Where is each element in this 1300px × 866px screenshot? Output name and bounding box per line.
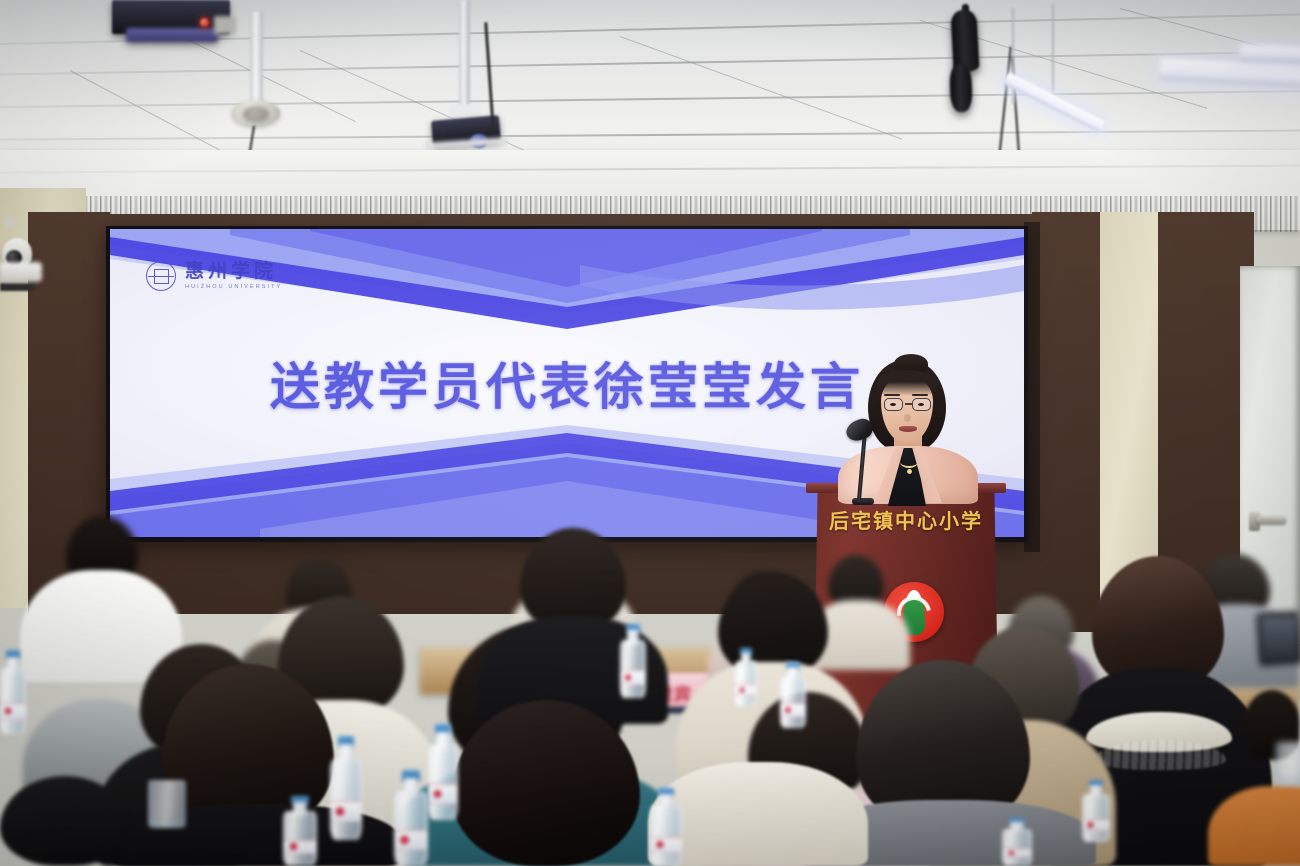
camera-base xyxy=(0,262,42,282)
light-hanger xyxy=(1052,4,1054,92)
speaker-mouth xyxy=(899,426,917,432)
bottle-label xyxy=(735,684,757,696)
water-bottle-icon xyxy=(394,770,428,866)
water-bottle-icon xyxy=(620,624,646,698)
university-name-cn: 惠州学院 xyxy=(185,262,282,281)
speaker-hairline xyxy=(876,370,938,396)
camera-shelf xyxy=(0,283,34,291)
drinking-glass-icon xyxy=(1276,742,1300,784)
door-handle-icon[interactable] xyxy=(1256,516,1286,524)
water-bottle-icon xyxy=(1082,780,1110,842)
bottle-label xyxy=(1082,819,1110,832)
bottle-label xyxy=(394,830,428,849)
bottle-body xyxy=(650,805,682,866)
speaker-eye-left xyxy=(890,403,896,406)
bottle-label xyxy=(650,837,682,853)
bottle-label xyxy=(330,801,362,822)
university-seal-icon xyxy=(146,261,176,291)
bottle-body xyxy=(330,759,362,840)
event-photograph: 惠州学院 HUIZHOU UNIVERSITY 送教学员代表徐莹莹发言 后宅镇中… xyxy=(0,0,1300,866)
bottle-label xyxy=(283,840,317,854)
speaker-nose xyxy=(904,414,911,422)
bottle-label xyxy=(1002,848,1032,858)
drinking-glass-icon xyxy=(148,780,186,828)
bottle-body xyxy=(620,640,646,698)
projector-pole xyxy=(459,0,470,112)
water-bottle-icon xyxy=(283,796,317,866)
status-led-icon xyxy=(200,18,209,27)
bottle-body xyxy=(1082,794,1110,842)
microphone-base xyxy=(852,498,874,505)
water-bottle-icon xyxy=(650,788,682,866)
laptop-screen xyxy=(1262,617,1296,659)
bottle-label xyxy=(0,703,26,720)
speaker-eye-right xyxy=(918,403,924,406)
water-bottle-icon xyxy=(780,662,806,728)
bottle-body xyxy=(283,811,317,866)
ceiling-speaker-icon xyxy=(950,9,979,72)
bottle-body xyxy=(0,668,26,734)
lectern-school-name: 后宅镇中心小学 xyxy=(812,505,1000,534)
university-name-en: HUIZHOU UNIVERSITY xyxy=(185,284,282,290)
camera-indicator-icon xyxy=(4,216,15,227)
ceiling-equipment-base xyxy=(126,28,218,42)
bottle-label xyxy=(428,784,458,803)
equipment-bracket xyxy=(214,16,236,34)
university-logo: 惠州学院 HUIZHOU UNIVERSITY xyxy=(146,261,282,291)
bottle-body xyxy=(735,661,757,706)
air-diffuser-core xyxy=(243,106,269,122)
bottle-label xyxy=(780,703,806,716)
bottle-body xyxy=(1002,829,1032,866)
water-bottle-icon xyxy=(330,736,362,840)
speaker-person xyxy=(820,352,995,497)
water-bottle-icon xyxy=(735,648,757,706)
fluorescent-tube-light-icon xyxy=(1240,44,1300,63)
bottle-label xyxy=(620,670,646,685)
speaker-necklace xyxy=(900,456,918,468)
water-bottle-icon xyxy=(428,724,458,820)
water-bottle-icon xyxy=(1002,818,1032,866)
bottle-body xyxy=(394,791,428,866)
eyeglass-bridge-icon xyxy=(905,403,912,405)
water-bottle-icon xyxy=(0,650,26,734)
bottle-body xyxy=(780,677,806,728)
ceiling-speaker-body xyxy=(949,64,973,113)
bottle-body xyxy=(428,745,458,820)
speaker-pendant xyxy=(907,469,912,474)
